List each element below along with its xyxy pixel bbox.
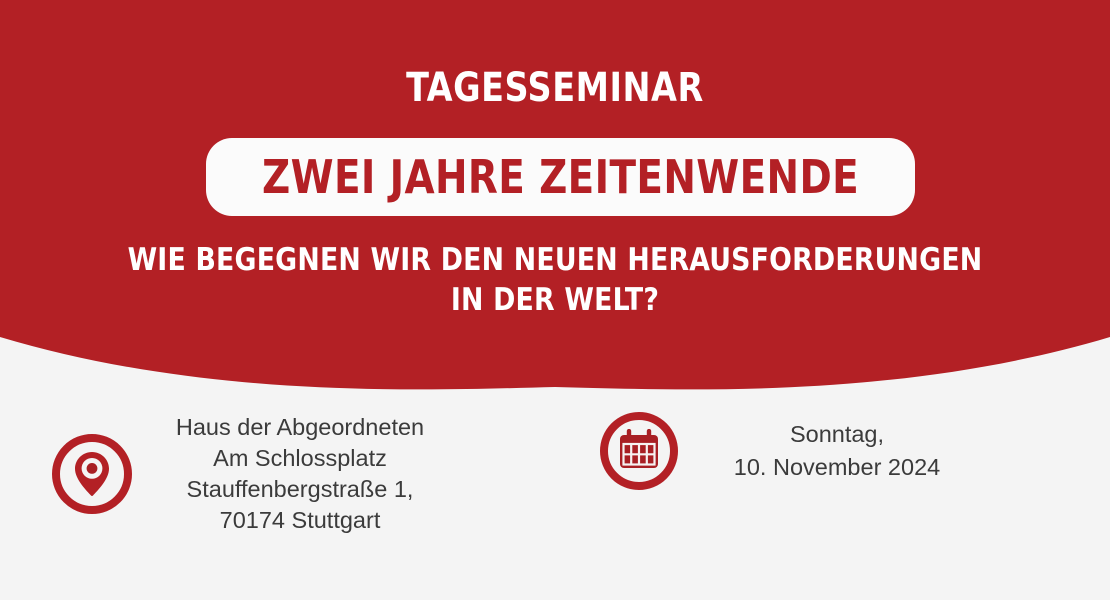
- venue-line-3: Stauffenbergstraße 1,: [150, 474, 450, 505]
- banner-content: TAGESSEMINAR ZWEI JAHRE ZEITENWENDE WIE …: [0, 0, 1110, 340]
- date-detail: Sonntag, 10. November 2024: [600, 412, 982, 490]
- eyebrow-title: TAGESSEMINAR: [39, 66, 1071, 110]
- location-pin-icon: [52, 434, 132, 514]
- seminar-poster: TAGESSEMINAR ZWEI JAHRE ZEITENWENDE WIE …: [0, 0, 1110, 600]
- venue-line-4: 70174 Stuttgart: [150, 505, 450, 536]
- date-line-2: 10. November 2024: [692, 451, 982, 484]
- date-line-1: Sonntag,: [692, 418, 982, 451]
- calendar-icon: [600, 412, 678, 490]
- event-date: Sonntag, 10. November 2024: [692, 418, 982, 484]
- venue-line-1: Haus der Abgeordneten: [150, 412, 450, 443]
- event-details: Haus der Abgeordneten Am Schlossplatz St…: [0, 400, 1110, 600]
- subheadline: WIE BEGEGNEN WIR DEN NEUEN HERAUSFORDERU…: [0, 240, 1110, 320]
- subheadline-line-2: IN DER WELT?: [22, 280, 1088, 320]
- page-title: ZWEI JAHRE ZEITENWENDE: [262, 153, 859, 201]
- venue-detail: Haus der Abgeordneten Am Schlossplatz St…: [52, 412, 450, 536]
- subheadline-line-1: WIE BEGEGNEN WIR DEN NEUEN HERAUSFORDERU…: [22, 240, 1088, 280]
- venue-address: Haus der Abgeordneten Am Schlossplatz St…: [150, 412, 450, 536]
- headline-pill: ZWEI JAHRE ZEITENWENDE: [206, 138, 915, 216]
- venue-line-2: Am Schlossplatz: [150, 443, 450, 474]
